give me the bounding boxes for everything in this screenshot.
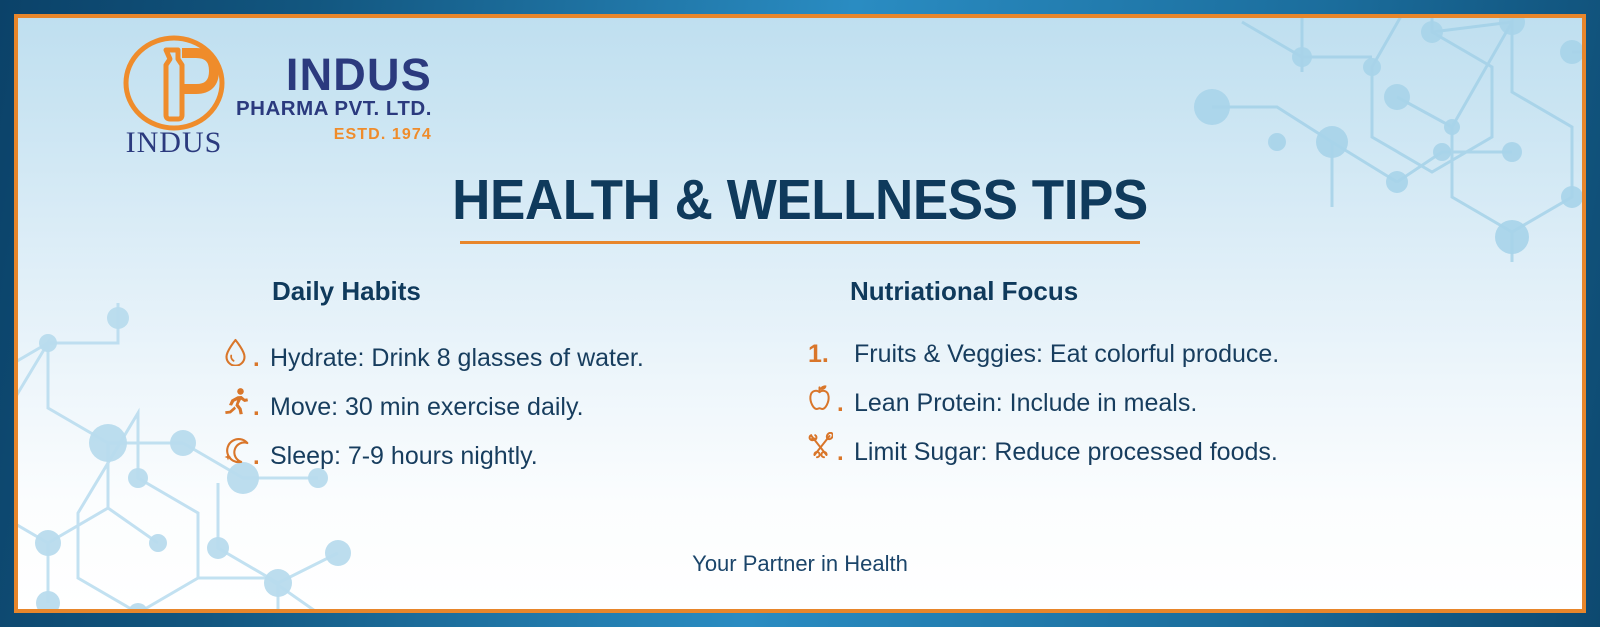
- footer-tagline: Your Partner in Health: [692, 551, 908, 576]
- marker-period: .: [837, 390, 844, 418]
- tip-text: Move: 30 min exercise daily.: [270, 391, 584, 423]
- column-nutriational-focus: Nutriational Focus 1. Fruits & Veggies: …: [808, 276, 1279, 481]
- brand-wordmark: INDUS PHARMA PVT. LTD. ESTD. 1974: [236, 31, 432, 147]
- tip-number: 1.: [808, 340, 829, 369]
- brand-name: INDUS: [236, 53, 432, 96]
- tip-item: . Move: 30 min exercise daily.: [224, 387, 644, 423]
- column-heading: Nutriational Focus: [850, 276, 1279, 307]
- svg-text:INDUS: INDUS: [126, 126, 223, 157]
- marker-period: .: [253, 345, 260, 373]
- tip-text: Fruits & Veggies: Eat colorful produce.: [854, 338, 1279, 370]
- marker-period: .: [837, 439, 844, 467]
- tip-text: Sleep: 7-9 hours nightly.: [270, 440, 538, 472]
- tip-marker: .: [224, 338, 270, 373]
- title-underline-rule: [460, 241, 1140, 244]
- page-title-block: HEALTH & WELLNESS TIPS: [18, 170, 1582, 244]
- tip-marker: .: [224, 387, 270, 422]
- tip-item: . Lean Protein: Include in meals.: [808, 383, 1279, 419]
- tip-item: . Sleep: 7-9 hours nightly.: [224, 436, 644, 472]
- marker-period: .: [253, 443, 260, 471]
- tip-marker: .: [224, 436, 270, 471]
- tip-text: Lean Protein: Include in meals.: [854, 387, 1197, 419]
- tip-text: Limit Sugar: Reduce processed foods.: [854, 436, 1278, 468]
- water-droplet-icon: [224, 338, 251, 366]
- footer: Your Partner in Health: [18, 551, 1582, 577]
- wellness-banner: INDUS INDUS PHARMA PVT. LTD. ESTD. 1974 …: [0, 0, 1600, 627]
- running-person-icon: [224, 387, 251, 415]
- page-title: HEALTH & WELLNESS TIPS: [452, 170, 1148, 232]
- brand-logo: INDUS INDUS PHARMA PVT. LTD. ESTD. 1974: [122, 31, 432, 157]
- apple-icon: [808, 383, 835, 411]
- tip-text: Hydrate: Drink 8 glasses of water.: [270, 342, 644, 374]
- marker-period: .: [253, 394, 260, 422]
- column-heading: Daily Habits: [272, 276, 644, 307]
- inner-panel: INDUS INDUS PHARMA PVT. LTD. ESTD. 1974 …: [18, 18, 1582, 609]
- crossed-fork-spoon-icon: [808, 432, 835, 460]
- brand-established: ESTD. 1974: [236, 123, 432, 147]
- tip-marker: 1.: [808, 340, 854, 369]
- column-daily-habits: Daily Habits . Hydrate: Drink 8 gl: [224, 276, 644, 485]
- tip-marker: .: [808, 432, 854, 467]
- brand-subtitle: PHARMA PVT. LTD.: [236, 96, 432, 123]
- indus-pharma-capsule-p-logo-icon: INDUS: [122, 31, 226, 157]
- tip-item: 1. Fruits & Veggies: Eat colorful produc…: [808, 338, 1279, 370]
- crescent-moon-star-icon: [224, 436, 251, 464]
- tip-item: . Limit Sugar: Reduce processed foods.: [808, 432, 1279, 468]
- tip-marker: .: [808, 383, 854, 418]
- tip-item: . Hydrate: Drink 8 glasses of water.: [224, 338, 644, 374]
